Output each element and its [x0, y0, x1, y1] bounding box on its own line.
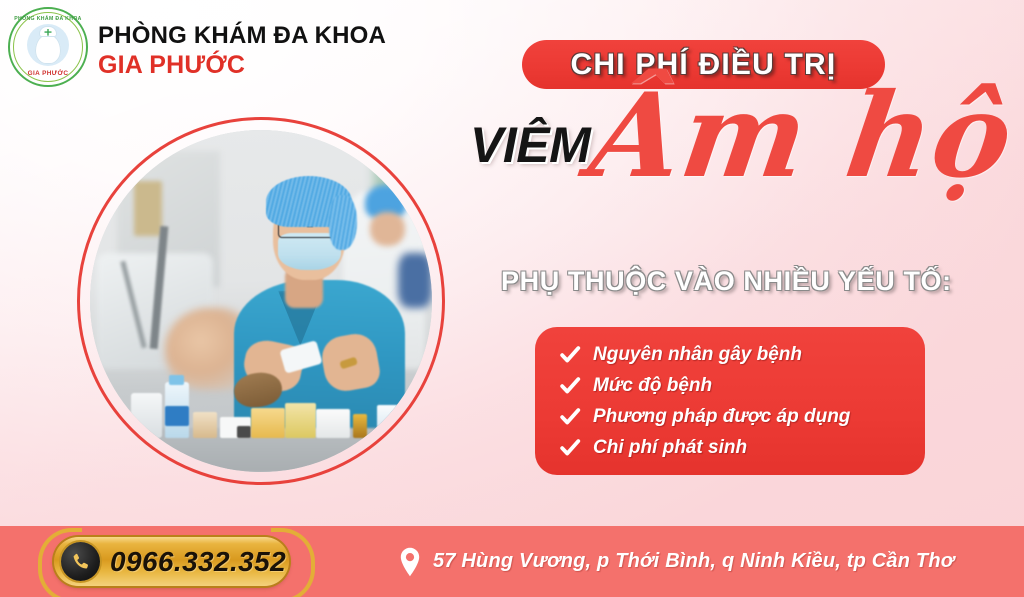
clinic-type-label: PHÒNG KHÁM ĐA KHOA [98, 24, 386, 48]
logo-arc-top-text: PHÒNG KHÁM ĐA KHOA [10, 16, 86, 22]
check-icon [559, 344, 581, 366]
phone-button[interactable]: 0966.332.352 [54, 537, 289, 586]
check-icon [559, 437, 581, 459]
contact-bar: 0966.332.352 57 Hùng Vương, p Thới Bình,… [0, 526, 1024, 597]
main-title: VIÊM Âm hộ [470, 102, 1000, 220]
title-script-word: Âm hộ [584, 78, 1020, 194]
list-item-label: Mức độ bệnh [593, 375, 712, 397]
brand-name-block: PHÒNG KHÁM ĐA KHOA GIA PHƯỚC [98, 16, 386, 78]
location-pin-icon [399, 547, 421, 577]
brand-header: PHÒNG KHÁM ĐA KHOA GIA PHƯỚC PHÒNG KHÁM … [8, 7, 386, 87]
address-block: 57 Hùng Vương, p Thới Bình, q Ninh Kiều,… [399, 526, 954, 597]
phone-icon [61, 542, 100, 581]
logo-arc-bottom-text: GIA PHƯỚC [8, 70, 88, 77]
list-item-label: Chi phí phát sinh [593, 437, 747, 459]
list-item-label: Phương pháp được áp dụng [593, 406, 850, 428]
photo-image [90, 130, 432, 472]
list-item-label: Nguyên nhân gây bệnh [593, 344, 802, 366]
clinic-name-label: GIA PHƯỚC [98, 53, 386, 78]
title-bold-word: VIÊM [470, 116, 590, 174]
address-label: 57 Hùng Vương, p Thới Bình, q Ninh Kiều,… [433, 550, 954, 573]
factors-panel: Nguyên nhân gây bệnh Mức độ bệnh Phương … [535, 327, 925, 475]
list-item: Mức độ bệnh [559, 370, 925, 401]
list-item: Chi phí phát sinh [559, 432, 925, 463]
list-item: Nguyên nhân gây bệnh [559, 339, 925, 370]
promo-banner: PHÒNG KHÁM ĐA KHOA GIA PHƯỚC PHÒNG KHÁM … [0, 0, 1024, 597]
phone-number-label: 0966.332.352 [110, 537, 286, 586]
nurse-photo [77, 117, 445, 485]
list-item: Phương pháp được áp dụng [559, 401, 925, 432]
subtitle-label: PHỤ THUỘC VÀO NHIỀU YẾU TỐ: [501, 266, 1001, 297]
check-icon [559, 375, 581, 397]
clinic-logo-icon: PHÒNG KHÁM ĐA KHOA GIA PHƯỚC [8, 7, 88, 87]
logo-mascot-icon [35, 34, 61, 64]
check-icon [559, 406, 581, 428]
